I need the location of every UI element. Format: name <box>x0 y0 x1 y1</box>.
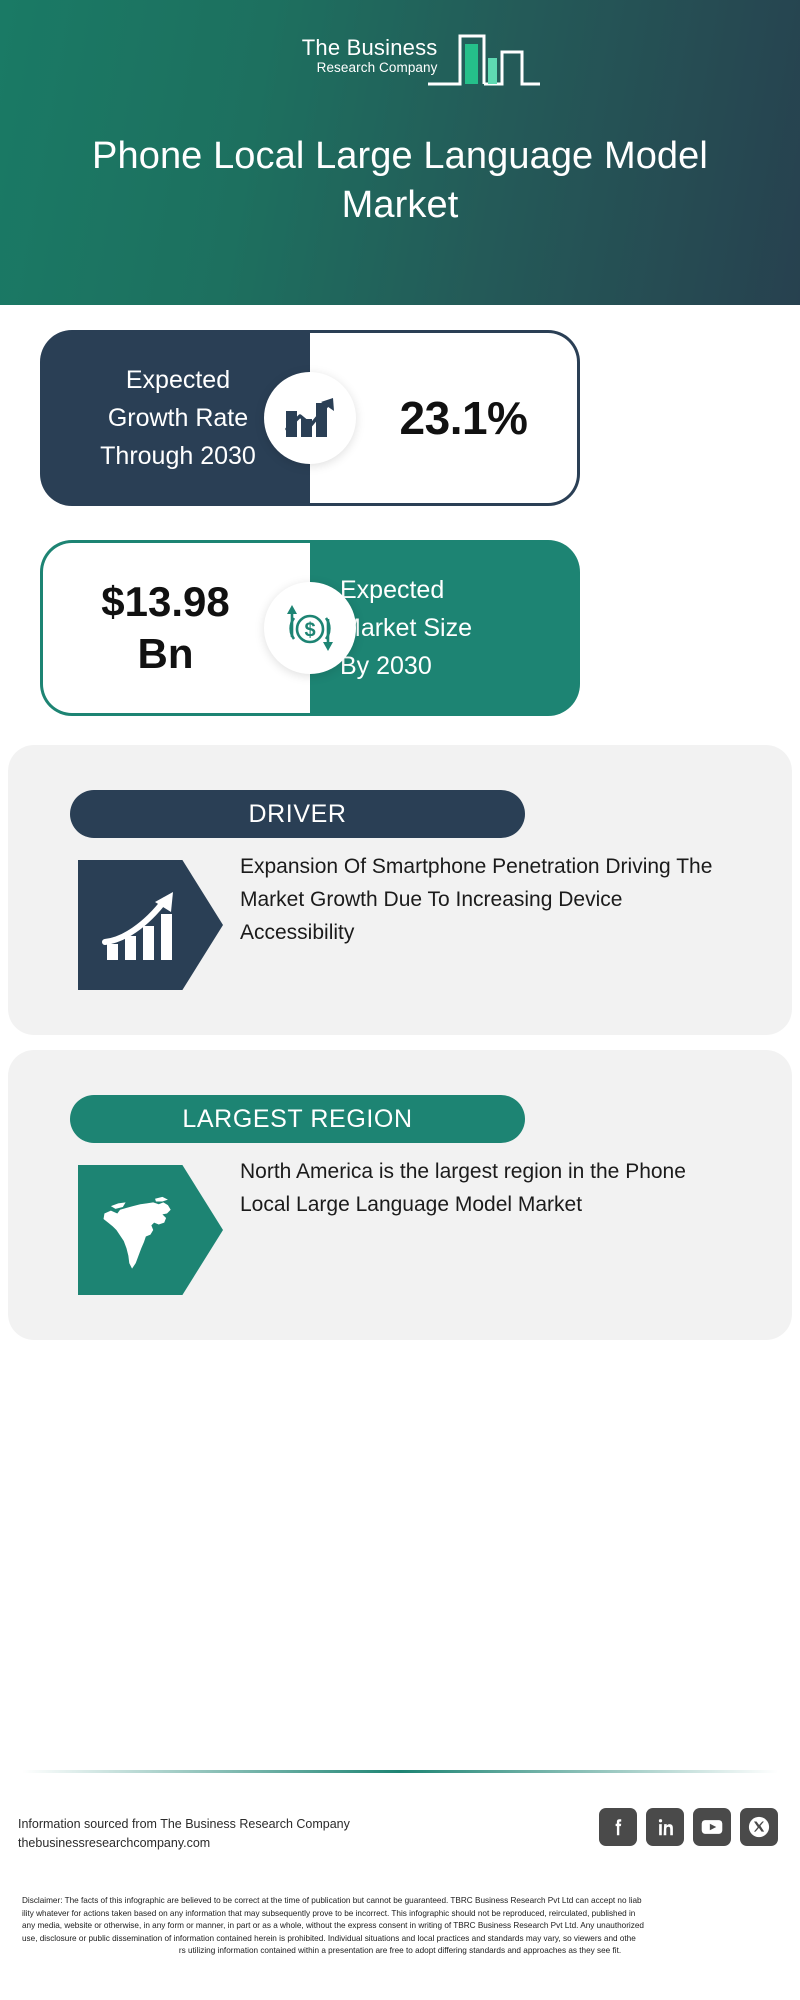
largest-region-text: North America is the largest region in t… <box>240 1155 740 1221</box>
svg-text:$: $ <box>304 620 315 642</box>
growth-rate-value: 23.1% <box>360 391 528 445</box>
rising-bar-chart-arrow-icon <box>78 860 223 990</box>
stat-card-market-size: $13.98 Bn Expected Market Size By 2030 $ <box>40 540 580 716</box>
market-size-label-line-2: Market Size <box>340 609 580 647</box>
header-banner: The Business Research Company Phone Loca… <box>0 0 800 305</box>
disclaimer-text: Disclaimer: The facts of this infographi… <box>22 1895 778 1958</box>
market-size-value-line-2: Bn <box>101 628 229 680</box>
largest-region-pill-label: LARGEST REGION <box>70 1095 525 1143</box>
linkedin-icon[interactable] <box>646 1808 684 1846</box>
growth-rate-label-line-1: Expected <box>100 361 256 399</box>
market-size-value: $13.98 Bn <box>101 576 251 680</box>
infographic-page: The Business Research Company Phone Loca… <box>0 0 800 2000</box>
disclaimer-line-4: use, disclosure or public dissemination … <box>22 1933 778 1946</box>
x-twitter-icon[interactable] <box>740 1808 778 1846</box>
footer-divider <box>22 1770 778 1773</box>
market-size-label-line-3: By 2030 <box>340 647 580 685</box>
social-links <box>599 1808 778 1846</box>
logo-line-2: Research Company <box>258 60 438 76</box>
growth-rate-label: Expected Growth Rate Through 2030 <box>94 361 256 475</box>
disclaimer-line-3: any media, website or otherwise, in any … <box>22 1920 778 1933</box>
stat-card-growth-rate: Expected Growth Rate Through 2030 23.1% <box>40 330 580 506</box>
attribution-line-2[interactable]: thebusinessresearchcompany.com <box>18 1834 468 1853</box>
logo-wordmark: The Business Research Company <box>258 36 438 76</box>
growth-bar-chart-arrow-icon <box>264 372 356 464</box>
attribution-line-1: Information sourced from The Business Re… <box>18 1815 468 1834</box>
market-size-value-line-1: $13.98 <box>101 576 229 628</box>
dollar-circular-arrows-icon: $ <box>264 582 356 674</box>
facebook-icon[interactable] <box>599 1808 637 1846</box>
footer-attribution: Information sourced from The Business Re… <box>18 1815 468 1853</box>
bar-chart-logo-mark-icon <box>424 22 544 94</box>
largest-region-panel: LARGEST REGION North America is the larg… <box>8 1050 792 1340</box>
driver-panel: DRIVER Expansion Of Smartphone Penetrati… <box>8 745 792 1035</box>
north-america-map-icon <box>78 1165 223 1295</box>
brand-logo: The Business Research Company <box>0 22 800 94</box>
growth-rate-label-line-2: Growth Rate <box>100 399 256 437</box>
driver-text: Expansion Of Smartphone Penetration Driv… <box>240 850 740 949</box>
growth-rate-label-line-3: Through 2030 <box>100 437 256 475</box>
logo-line-1: The Business <box>258 36 438 60</box>
market-size-label-line-1: Expected <box>340 571 580 609</box>
driver-pill-label: DRIVER <box>70 790 525 838</box>
disclaimer-line-1: Disclaimer: The facts of this infographi… <box>22 1895 778 1908</box>
youtube-icon[interactable] <box>693 1808 731 1846</box>
disclaimer-line-2: ility whatever for actions taken based o… <box>22 1908 778 1921</box>
disclaimer-line-5: rs utilizing information contained withi… <box>22 1945 778 1958</box>
page-title: Phone Local Large Language Model Market <box>40 132 760 230</box>
